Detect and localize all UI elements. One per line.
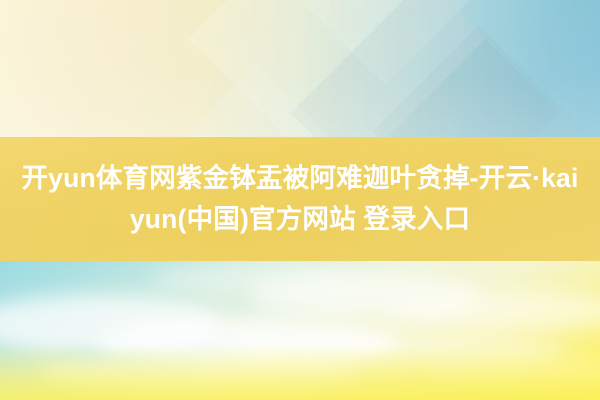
banner-sky-panel [0, 261, 600, 400]
banner-headline: 开yun体育网紫金钵盂被阿难迦叶贪掉-开云·kaiyun(中国)官方网站 登录入… [15, 158, 585, 240]
teal-cloud-wisp [56, 339, 246, 365]
cloud-shape [250, 273, 480, 317]
cloud-shape [150, 263, 350, 293]
cloud-shape [0, 295, 220, 353]
cloud-shape [96, 319, 396, 367]
cloud-shape [390, 291, 600, 331]
cloud-shape [40, 353, 360, 393]
banner-top-gradient-panel [0, 0, 600, 138]
headline-gold-band: 开yun体育网紫金钵盂被阿难迦叶贪掉-开云·kaiyun(中国)官方网站 登录入… [0, 137, 600, 261]
cloud-shape [300, 335, 570, 369]
sky-bottom-glow [0, 344, 600, 400]
cloud-shape [430, 357, 600, 389]
banner-image: 开yun体育网紫金钵盂被阿难迦叶贪掉-开云·kaiyun(中国)官方网站 登录入… [0, 0, 600, 400]
headline-line-2: un(中国)官方网站 登录入口 [145, 204, 470, 234]
top-panel-light-veil [0, 0, 600, 138]
